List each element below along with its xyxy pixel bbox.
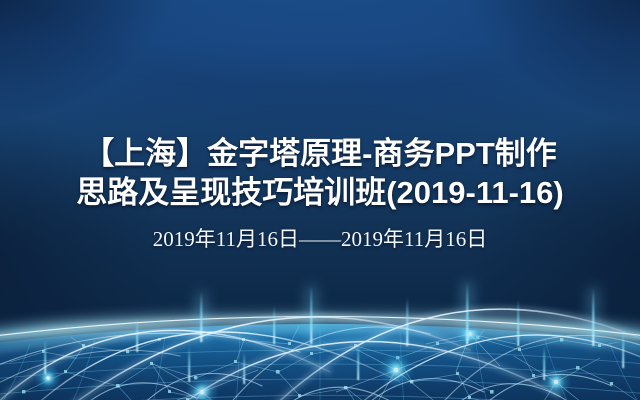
event-date-range: 2019年11月16日——2019年11月16日 <box>0 224 640 254</box>
title-line-2: 思路及呈现技巧培训班(2019-11-16) <box>0 173 640 212</box>
page-title: 【上海】金字塔原理-商务PPT制作 思路及呈现技巧培训班(2019-11-16) <box>0 134 640 212</box>
banner-content: 【上海】金字塔原理-商务PPT制作 思路及呈现技巧培训班(2019-11-16)… <box>0 0 640 400</box>
title-line-1: 【上海】金字塔原理-商务PPT制作 <box>0 134 640 173</box>
event-banner: 【上海】金字塔原理-商务PPT制作 思路及呈现技巧培训班(2019-11-16)… <box>0 0 640 400</box>
